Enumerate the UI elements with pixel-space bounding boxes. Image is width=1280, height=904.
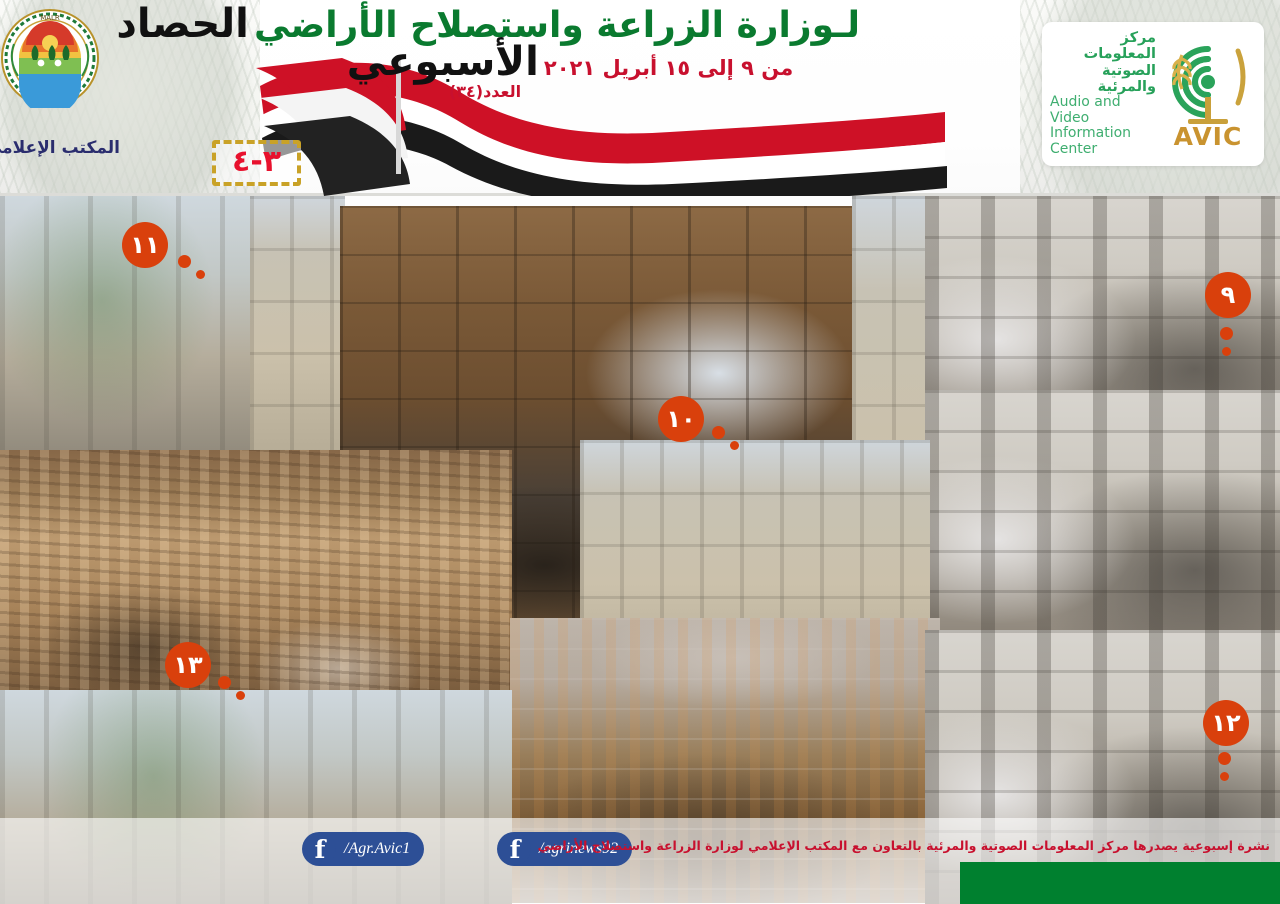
news-10-dot-small — [730, 441, 739, 450]
facebook-link-agr-avic[interactable]: f /Agr.Avic1 — [302, 832, 424, 866]
facebook-handle-avic: /Agr.Avic1 — [344, 840, 410, 858]
page-number-text: ٣-٤ — [232, 144, 281, 179]
malr-caption: المكتب الإعلامي — [0, 138, 120, 158]
photo-ministry-facade-left — [250, 196, 345, 456]
newsletter-page: MALR المكتب الإعلامي ٣-٤ لـوزارة الزراعة… — [0, 0, 1280, 904]
title-date-range: من ٩ إلى ١٥ أبريل ٢٠٢١ — [544, 56, 793, 80]
avic-english-line-1: Audio and Video — [1050, 95, 1156, 126]
photo-training-classroom — [925, 390, 1280, 640]
avic-broadcast-icon: AVIC — [1160, 33, 1256, 155]
avic-arabic-line-1: مركز المعلومات — [1050, 30, 1156, 62]
news-11-dot-large — [178, 255, 191, 268]
malr-emblem-icon: MALR — [0, 8, 100, 108]
footer-note-text: نشرة إسبوعية يصدرها مركز المعلومات الصوت… — [740, 838, 1270, 853]
svg-text:MALR: MALR — [40, 14, 60, 22]
title-issue-number: العدد(٣٤) — [280, 82, 690, 101]
news-9-dot-small — [1222, 347, 1231, 356]
page-number-badge: ٣-٤ — [212, 140, 301, 186]
title-subtitle: لـوزارة الزراعة واستصلاح الأراضي — [254, 5, 860, 46]
news-13-number-badge: ١٣ — [165, 642, 211, 688]
news-9-number-badge: ٩ — [1205, 272, 1251, 318]
avic-logo-card: AVIC مركز المعلومات الصوتية والمرئية Aud… — [1042, 22, 1264, 166]
masthead-title: لـوزارة الزراعة واستصلاح الأراضي الحصاد … — [280, 4, 860, 101]
news-12-dot-small — [1220, 772, 1229, 781]
news-10-number-badge: ١٠ — [658, 396, 704, 442]
facebook-icon: f — [499, 833, 531, 865]
news-10-dot-large — [712, 426, 725, 439]
news-11-dot-small — [196, 270, 205, 279]
avic-arabic-line-2: الصوتية والمرئية — [1050, 63, 1156, 95]
page-header: MALR المكتب الإعلامي ٣-٤ لـوزارة الزراعة… — [0, 0, 1280, 196]
photo-livestock-vaccination-barn — [0, 450, 512, 710]
news-11-number-badge: ١١ — [122, 222, 168, 268]
news-12-number-badge: ١٢ — [1203, 700, 1249, 746]
facebook-icon: f — [304, 833, 336, 865]
title-weekly: الأسبوعي — [347, 39, 539, 85]
news-9-dot-large — [1220, 327, 1233, 340]
title-main: الحصاد — [116, 1, 249, 47]
news-12-dot-large — [1218, 752, 1231, 765]
svg-text:AVIC: AVIC — [1174, 122, 1243, 151]
footer-green-band — [960, 862, 1280, 904]
avic-english-line-2: Information Center — [1050, 126, 1156, 157]
news-13-dot-small — [236, 691, 245, 700]
news-13-dot-large — [218, 676, 231, 689]
